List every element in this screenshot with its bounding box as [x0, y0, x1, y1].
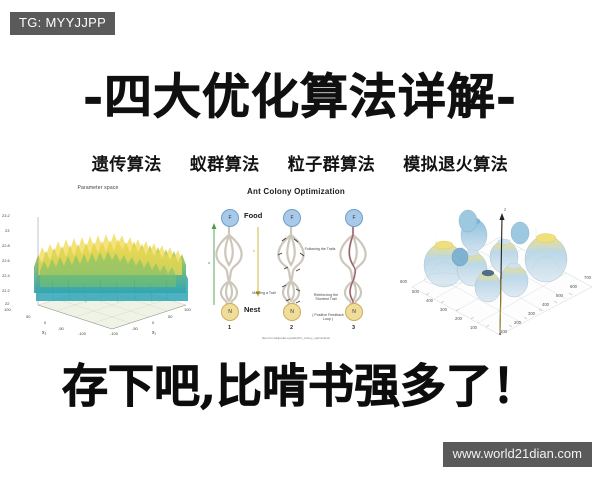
dome-left-tick-5: 100 — [470, 325, 477, 330]
surface-z-tick-6: 22 — [5, 301, 9, 306]
panel-parameter-space-caption: Parameter space — [0, 185, 196, 191]
dome-right-tick-5: 200 — [514, 320, 521, 325]
dome-left-tick-3: 300 — [440, 307, 447, 312]
aco-note-reinforcing-trail: Reinforcing the Shortest Trail — [308, 293, 344, 302]
surface-x1-tick-4: 100 — [184, 307, 191, 312]
aco-source-footnote: http://en.wikipedia.org/wiki/Ant_colony_… — [196, 336, 396, 340]
dome-right-tick-0: 700 — [584, 275, 591, 280]
aco-step-number-2: 2 — [290, 325, 293, 331]
surface-axis-label-x2: x₂ — [42, 330, 46, 336]
subtitle-simulated-annealing-algorithm: 模拟退火算法 — [403, 150, 508, 175]
subtitle-genetic-algorithm: 遗传算法 — [92, 150, 162, 175]
aco-arrow-label-b: b — [253, 249, 255, 253]
dome-plot-svg — [396, 183, 600, 341]
aco-food-label: Food — [244, 211, 262, 220]
surface-plot-svg — [16, 197, 192, 333]
surface-x1-tick-2: 0 — [152, 320, 154, 325]
aco-step-number-1: 1 — [228, 325, 231, 331]
site-watermark: www.world21dian.com — [443, 442, 592, 467]
surface-z-tick-3: 22.6 — [2, 258, 10, 263]
aco-food-node-2: F — [283, 209, 301, 227]
aco-nest-node-1: N — [221, 303, 239, 321]
aco-food-node-3: F — [345, 209, 363, 227]
aco-arrow-label-a: a — [208, 261, 210, 265]
surface-z-tick-2: 22.8 — [2, 243, 10, 248]
aco-nest-node-2: N — [283, 303, 301, 321]
panel-ant-colony-optimization: Ant Colony Optimization — [196, 183, 396, 341]
aco-step-number-3: 3 — [352, 325, 355, 331]
surface-x1-tick-0: -100 — [110, 331, 118, 336]
telegram-handle-badge: TG: MYYJJPP — [10, 12, 115, 35]
surface-z-tick-4: 22.4 — [2, 273, 10, 278]
dome-left-tick-4: 200 — [455, 316, 462, 321]
dome-left-tick-1: 500 — [412, 289, 419, 294]
dome-axis-label-z: z — [504, 207, 506, 212]
aco-note-following-trails: Following the Trails — [304, 247, 336, 251]
dome-right-tick-4: 300 — [528, 311, 535, 316]
surface-z-tick-0: 23.2 — [2, 213, 10, 218]
illustration-strip: Parameter space — [0, 183, 600, 341]
aco-food-node-1: F — [221, 209, 239, 227]
surface-plot: 23.2 23 22.8 22.6 22.4 22.2 22 100 50 0 … — [16, 197, 192, 333]
poster-root: TG: MYYJJPP -四大优化算法详解- 遗传算法 蚁群算法 粒子群算法 模… — [0, 0, 600, 480]
aco-diagram: F N F N F N Food Nest a b Marking a Trai… — [196, 183, 396, 341]
promo-slogan: 存下吧,比啃书强多了！ — [0, 350, 600, 416]
surface-x2-tick-0: 100 — [4, 307, 11, 312]
dome-right-tick-1: 600 — [570, 284, 577, 289]
algorithm-subtitle-row: 遗传算法 蚁群算法 粒子群算法 模拟退火算法 — [0, 150, 600, 175]
dome-right-tick-2: 500 — [556, 293, 563, 298]
surface-x2-tick-1: 50 — [26, 314, 30, 319]
subtitle-particle-swarm-algorithm: 粒子群算法 — [288, 150, 376, 175]
aco-note-marking-trail: Marking a Trail — [244, 291, 284, 295]
dome-left-tick-0: 600 — [400, 279, 407, 284]
dome-right-tick-3: 400 — [542, 302, 549, 307]
surface-z-tick-5: 22.2 — [2, 288, 10, 293]
surface-x1-tick-3: 50 — [168, 314, 172, 319]
aco-nest-label: Nest — [244, 305, 260, 314]
surface-x2-tick-3: -50 — [58, 326, 64, 331]
surface-z-tick-1: 23 — [5, 228, 9, 233]
dome-right-tick-6: 100 — [500, 329, 507, 334]
dome-left-tick-2: 400 — [426, 298, 433, 303]
dome-plot: z 600 500 400 300 200 100 700 600 500 40… — [396, 183, 600, 341]
page-title: -四大优化算法详解- — [0, 72, 600, 122]
panel-multimodal-domes: z 600 500 400 300 200 100 700 600 500 40… — [396, 183, 600, 341]
surface-x1-tick-1: -50 — [132, 326, 138, 331]
surface-x2-tick-4: -100 — [78, 331, 86, 336]
surface-x2-tick-2: 0 — [44, 320, 46, 325]
panel-parameter-space: Parameter space — [0, 183, 196, 341]
surface-axis-label-x1: x₁ — [152, 330, 156, 336]
subtitle-ant-colony-algorithm: 蚁群算法 — [190, 150, 260, 175]
aco-note-feedback-loop: ( Positive Feedback Loop ) — [308, 313, 348, 322]
